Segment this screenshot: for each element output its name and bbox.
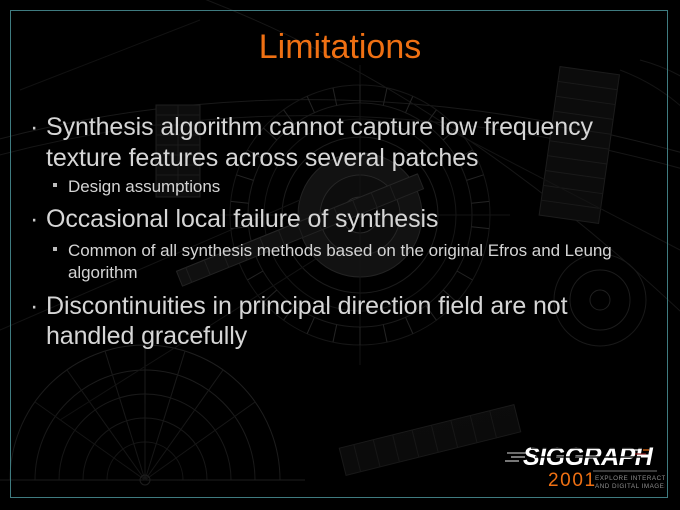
bullet-level1: · Occasional local failure of synthesis: [28, 204, 658, 235]
slide-body: · Synthesis algorithm cannot capture low…: [28, 112, 658, 352]
bullet-level2: Design assumptions: [28, 176, 658, 198]
logo-year: 2001: [548, 470, 597, 491]
bullet-text: Occasional local failure of synthesis: [46, 204, 658, 235]
bullet-dot-icon: ·: [30, 112, 38, 143]
bullet-square-icon: [53, 247, 57, 251]
bullet-dot-icon: ·: [30, 204, 38, 235]
spacer: [28, 284, 658, 291]
bullet-square-icon: [53, 183, 57, 187]
bullet-dot-icon: ·: [30, 291, 38, 322]
slide-title: Limitations: [0, 27, 680, 67]
bullet-level1: · Synthesis algorithm cannot capture low…: [28, 112, 658, 173]
bullet-text: Synthesis algorithm cannot capture low f…: [46, 112, 658, 173]
bullet-text: Design assumptions: [68, 176, 658, 198]
bullet-text: Common of all synthesis methods based on…: [68, 240, 658, 284]
siggraph-logo: SIGGRAPH 2001 EXPLORE INTERACTION AND DI…: [505, 440, 665, 496]
bullet-text: Discontinuities in principal direction f…: [46, 291, 658, 352]
logo-tagline-line2: AND DIGITAL IMAGES: [595, 483, 665, 490]
bullet-level2: Common of all synthesis methods based on…: [28, 240, 658, 284]
logo-tagline-line1: EXPLORE INTERACTION: [595, 475, 665, 482]
presentation-slide: Limitations · Synthesis algorithm cannot…: [0, 0, 680, 510]
bullet-level1: · Discontinuities in principal direction…: [28, 291, 658, 352]
